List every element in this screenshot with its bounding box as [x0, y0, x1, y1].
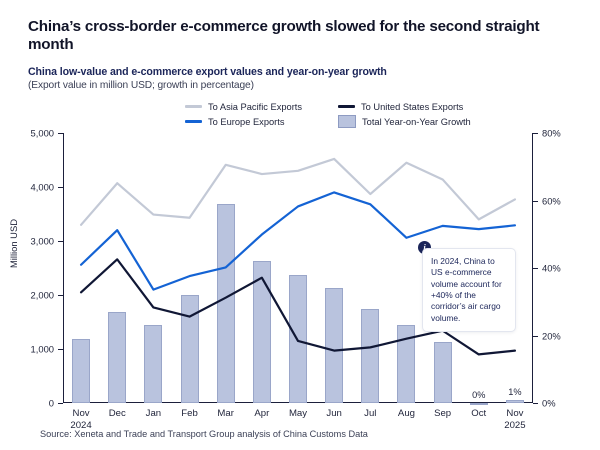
legend-row-2: To Europe Exports Total Year-on-Year Gro…: [185, 114, 525, 129]
y-tick-right: [533, 336, 538, 337]
x-axis-label-group: May: [289, 408, 307, 420]
y-tick-label-right: 40%: [542, 263, 561, 274]
y-tick-label-right: 80%: [542, 128, 561, 139]
y-tick-label-left: 4,000: [31, 182, 54, 193]
chart-subtitle: China low-value and e-commerce export va…: [28, 66, 498, 78]
legend-swatch-total-growth-icon: [338, 115, 356, 128]
chart-subtitle-note: (Export value in million USD; growth in …: [28, 80, 498, 91]
y-tick-label-left: 2,000: [31, 290, 54, 301]
x-tick-label: Sep: [434, 408, 451, 420]
legend-swatch-united-states-icon: [338, 105, 355, 108]
line-series[interactable]: [81, 159, 515, 225]
x-axis-label-group: Feb: [181, 408, 198, 420]
bar[interactable]: [470, 403, 488, 405]
x-tick-label: Nov: [70, 408, 91, 420]
legend-label-total-growth: Total Year-on-Year Growth: [362, 117, 471, 127]
x-tick-label: Jun: [326, 408, 341, 420]
x-tick-label: Mar: [217, 408, 234, 420]
x-axis-label-group: Jan: [146, 408, 161, 420]
x-axis-label-group: Jul: [364, 408, 376, 420]
x-axis-label-group: Mar: [217, 408, 234, 420]
y-tick-label-left: 0: [49, 398, 54, 409]
x-axis-label-group: Apr: [254, 408, 269, 420]
legend-item-total-growth[interactable]: Total Year-on-Year Growth: [338, 115, 471, 128]
y-axis-title-left: Million USD: [8, 219, 19, 268]
y-tick-label-right: 20%: [542, 330, 561, 341]
x-tick-label: Aug: [398, 408, 415, 420]
x-tick-sublabel: 2025: [504, 420, 525, 432]
y-tick-right: [533, 133, 538, 134]
x-tick-label: Oct: [471, 408, 486, 420]
x-tick-label: Dec: [109, 408, 126, 420]
x-tick-label: Jul: [364, 408, 376, 420]
legend-item-europe[interactable]: To Europe Exports: [185, 117, 338, 127]
x-tick-label: Feb: [181, 408, 198, 420]
legend-item-asia-pacific[interactable]: To Asia Pacific Exports: [185, 102, 338, 112]
y-tick-label-right: 60%: [542, 195, 561, 206]
y-tick-label-left: 3,000: [31, 236, 54, 247]
chart-legend: To Asia Pacific Exports To United States…: [185, 99, 525, 129]
y-tick-label-left: 5,000: [31, 128, 54, 139]
legend-item-united-states[interactable]: To United States Exports: [338, 102, 463, 112]
y-tick-label-left: 1,000: [31, 344, 54, 355]
x-tick-label: Nov: [504, 408, 525, 420]
page-title: China’s cross-border e-commerce growth s…: [28, 18, 588, 54]
x-tick-label: Apr: [254, 408, 269, 420]
legend-swatch-europe-icon: [185, 120, 202, 123]
x-axis-label-group: Aug: [398, 408, 415, 420]
legend-label-united-states: To United States Exports: [361, 102, 463, 112]
x-axis-label-group: Jun: [326, 408, 341, 420]
y-tick-right: [533, 201, 538, 202]
chart-page: China’s cross-border e-commerce growth s…: [0, 0, 600, 450]
y-tick-right: [533, 403, 538, 404]
legend-swatch-asia-pacific-icon: [185, 105, 202, 108]
legend-label-europe: To Europe Exports: [208, 117, 284, 127]
y-tick-left: [58, 403, 63, 404]
x-tick-label: Jan: [146, 408, 161, 420]
source-note: Source: Xeneta and Trade and Transport G…: [40, 429, 368, 439]
legend-label-asia-pacific: To Asia Pacific Exports: [208, 102, 302, 112]
y-tick-right: [533, 268, 538, 269]
legend-row-1: To Asia Pacific Exports To United States…: [185, 99, 525, 114]
annotation-callout: In 2024, China to US e-commerce volume a…: [422, 248, 516, 332]
x-axis-label-group: Dec: [109, 408, 126, 420]
y-tick-label-right: 0%: [542, 398, 556, 409]
x-tick-label: May: [289, 408, 307, 420]
x-axis-label-group: Nov2025: [504, 408, 525, 432]
x-axis-label-group: Oct: [471, 408, 486, 420]
x-axis-label-group: Sep: [434, 408, 451, 420]
